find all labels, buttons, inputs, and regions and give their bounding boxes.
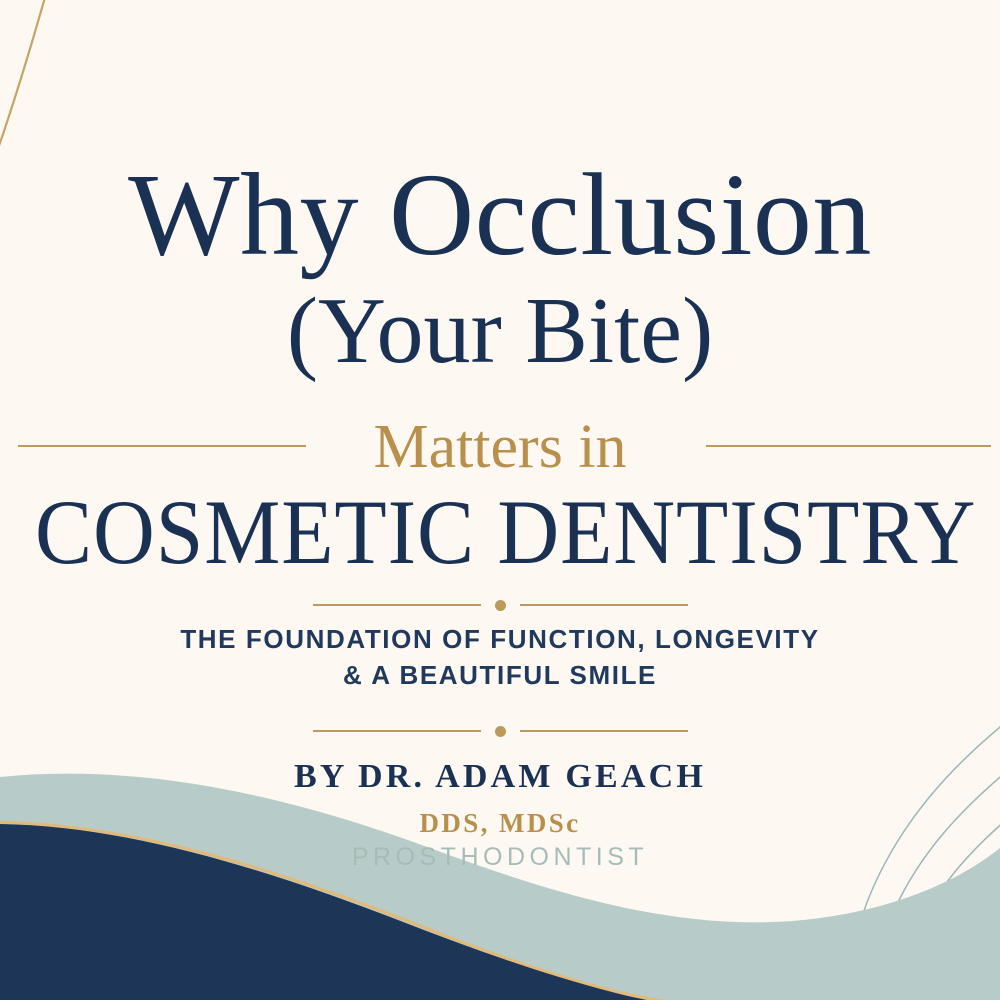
ornament-line-right <box>520 730 688 732</box>
ornament-dot-icon <box>495 726 506 737</box>
title-line-1: Why Occlusion <box>0 156 1000 274</box>
title-line-4: COSMETIC DENTISTRY <box>35 486 965 578</box>
ornament-dot-icon <box>495 600 506 611</box>
ornament-line-left <box>313 730 481 732</box>
author-byline: BY DR. ADAM GEACH <box>0 758 1000 796</box>
ornament-line-left <box>313 604 481 606</box>
subtitle-line-1: THE FOUNDATION OF FUNCTION, LONGEVITY <box>0 622 1000 658</box>
ornament-divider-top <box>0 598 1000 612</box>
author-specialty: PROSTHODONTIST <box>0 843 1000 872</box>
author-credentials: DDS, MDSc <box>0 808 1000 839</box>
ornament-line-right <box>520 604 688 606</box>
cover-text-block: Why Occlusion (Your Bite) Matters in COS… <box>0 0 1000 1000</box>
subtitle-line-2: & A BEAUTIFUL SMILE <box>0 658 1000 694</box>
title-line-2: (Your Bite) <box>0 284 1000 378</box>
poster-canvas: Why Occlusion (Your Bite) Matters in COS… <box>0 0 1000 1000</box>
subtitle-block: THE FOUNDATION OF FUNCTION, LONGEVITY & … <box>0 622 1000 694</box>
title-line-3: Matters in <box>0 416 1000 479</box>
matters-in-rule-row: Matters in <box>0 416 1000 482</box>
ornament-divider-bottom <box>0 724 1000 738</box>
